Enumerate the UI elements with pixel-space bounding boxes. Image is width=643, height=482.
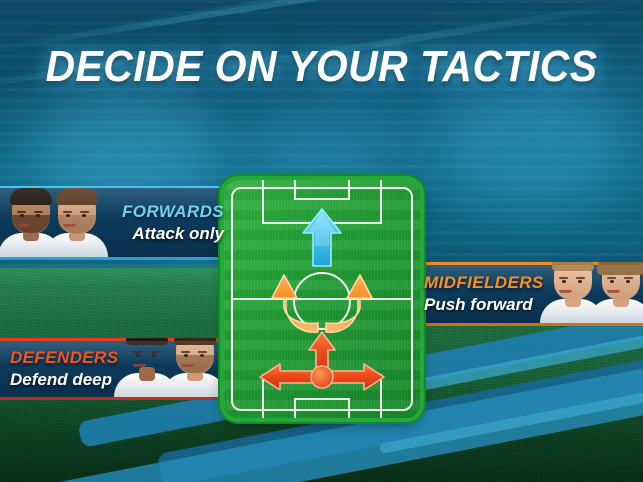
midfielders-role-label: MIDFIELDERS [424,273,544,293]
tactic-band-midfielders[interactable]: MIDFIELDERS Push forward [407,262,643,326]
arrow-up-icon [303,209,341,266]
midfielders-player-portraits [544,265,643,323]
defenders-arrow[interactable] [258,330,386,396]
tactic-band-defenders[interactable]: DEFENDERS Defend deep [0,338,230,400]
tactic-band-forwards[interactable]: FORWARDS Attack only [0,186,234,260]
tactics-pitch[interactable] [224,180,420,418]
forwards-role-label: FORWARDS [122,202,224,222]
defenders-role-label: DEFENDERS [10,348,118,368]
midfielders-arrow[interactable] [254,266,390,336]
arrows-fan-out-icon [272,275,372,332]
tactics-screen: DECIDE ON YOUR TACTICS [0,0,643,482]
forwards-player-portraits [0,188,71,257]
midfielders-tactic-label: Push forward [424,295,533,315]
forwards-arrow[interactable] [300,208,344,270]
arrows-three-way-icon [260,332,384,390]
defenders-tactic-label: Defend deep [10,370,112,390]
forwards-tactic-label: Attack only [132,224,224,244]
defenders-player-portraits [118,341,230,397]
pitch-goal-box-bottom [294,398,350,418]
pitch-goal-box-top [294,180,350,200]
page-title: DECIDE ON YOUR TACTICS [23,42,621,92]
